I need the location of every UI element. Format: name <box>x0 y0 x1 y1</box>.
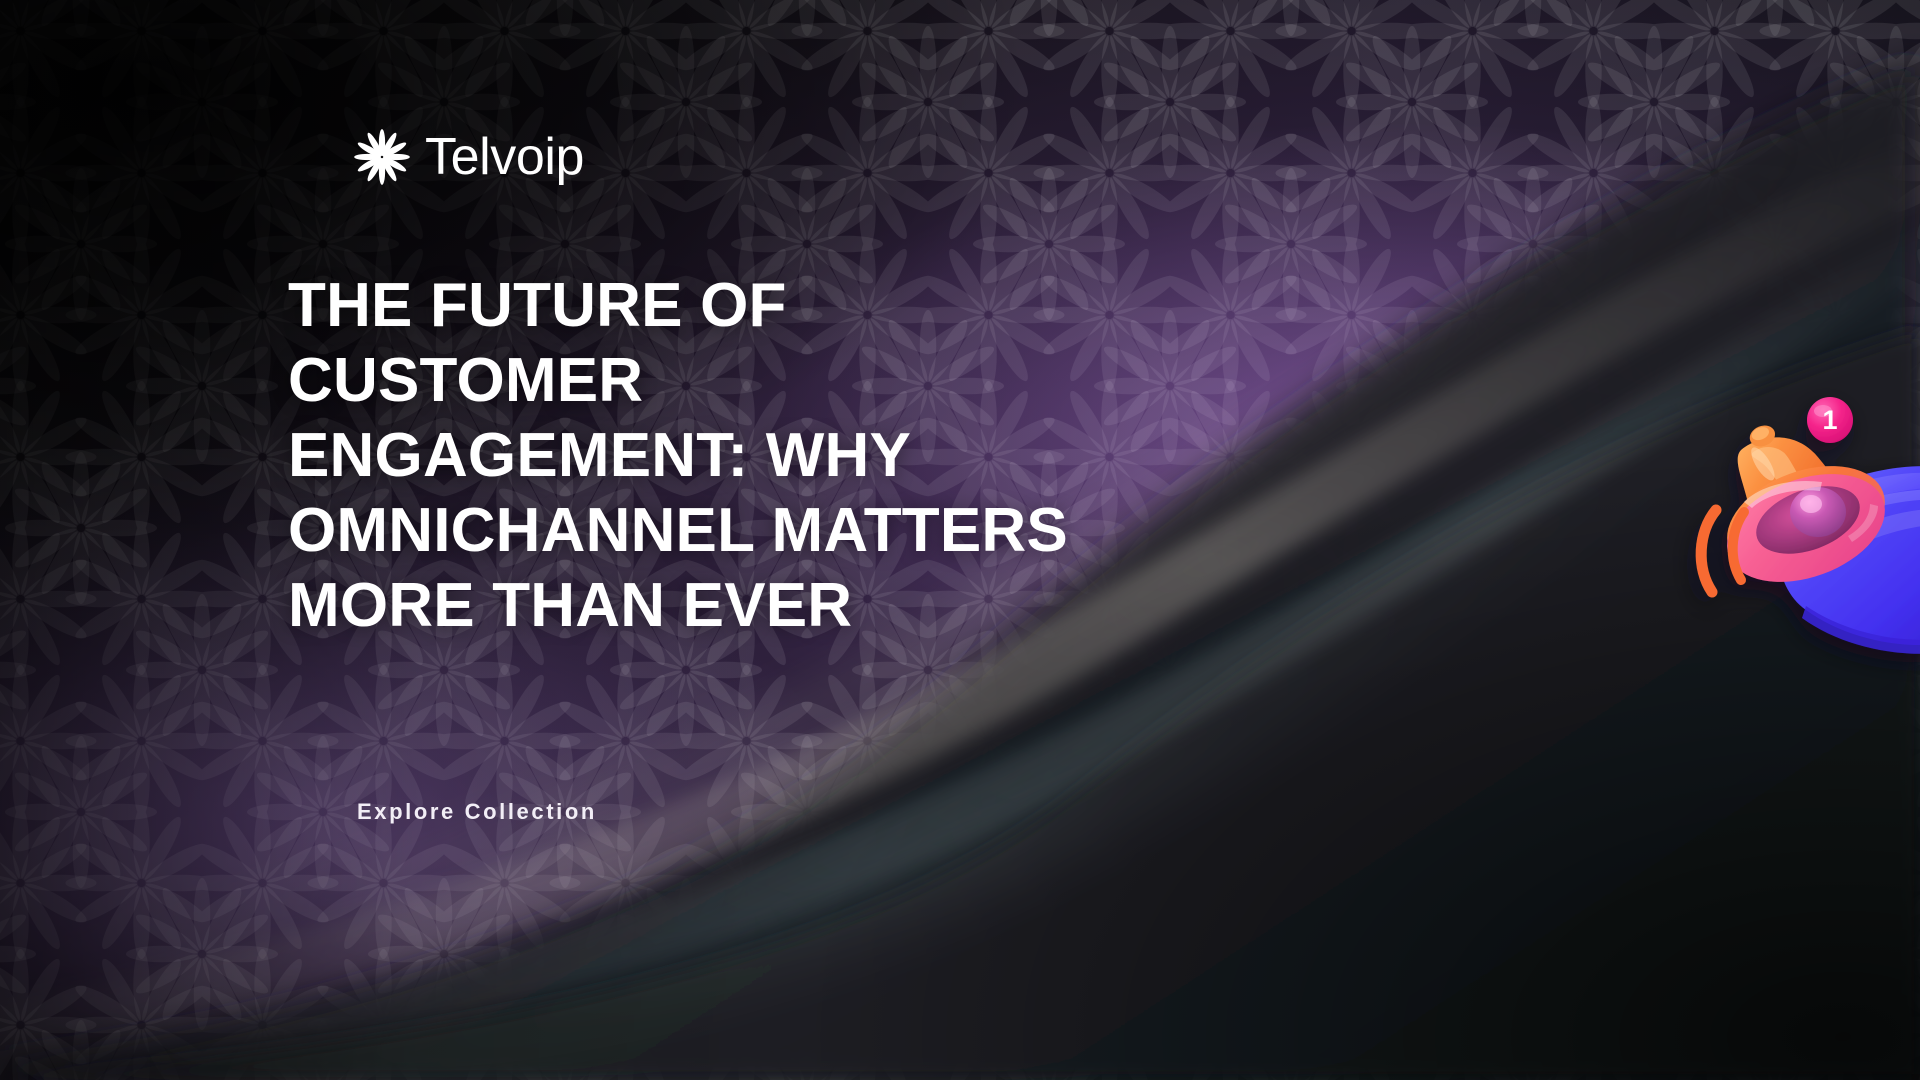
starburst-flower-icon <box>353 128 411 186</box>
brand-logo[interactable]: Telvoip <box>353 128 584 186</box>
brand-name: Telvoip <box>425 131 584 183</box>
hero-content: Telvoip THE FUTURE OF CUSTOMER ENGAGEMEN… <box>0 0 1920 1080</box>
page-title: THE FUTURE OF CUSTOMER ENGAGEMENT: WHY O… <box>288 268 1118 643</box>
hero-banner: Telvoip THE FUTURE OF CUSTOMER ENGAGEMEN… <box>0 0 1920 1080</box>
explore-collection-button[interactable]: Explore Collection <box>355 795 599 829</box>
